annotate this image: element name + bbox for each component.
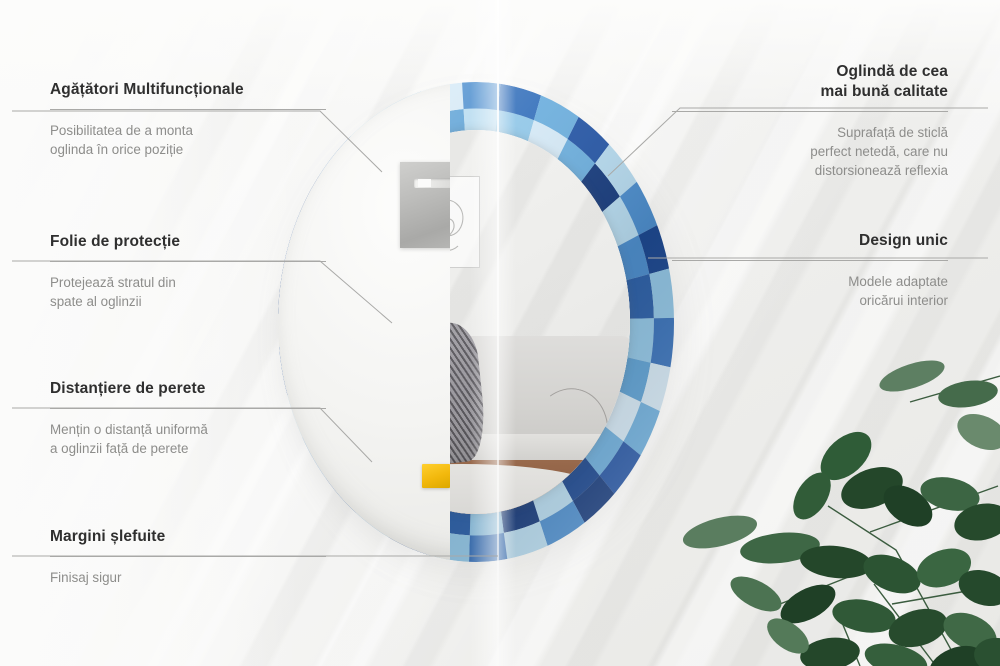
callout-rule [50,556,326,557]
foliage-decoration [660,336,1000,666]
callout-protective-film: Folie de protecțieProtejează stratul din… [50,232,326,311]
callout-rule [672,111,948,112]
callout-title: Oglindă de ceamai bună calitate [672,62,948,102]
callout-title: Margini șlefuite [50,527,326,547]
callout-body: Protejează stratul dinspate al oglinzii [50,273,326,311]
callout-unique-design: Design unicModele adaptateoricărui inter… [672,231,948,310]
callout-body: Finisaj sigur [50,568,326,587]
wall-spacer [422,464,450,488]
callout-body: Posibilitatea de a montaoglinda în orice… [50,121,326,159]
callout-rule [50,261,326,262]
callout-body: Modele adaptateoricărui interior [672,272,948,310]
callout-title: Agățători Multifuncționale [50,80,326,100]
callout-wall-spacers: Distanțiere de pereteMențin o distanță u… [50,379,326,458]
callout-polished-edges: Margini șlefuiteFinisaj sigur [50,527,326,587]
callout-rule [50,408,326,409]
callout-rule [50,109,326,110]
callout-hangers: Agățători MultifuncționalePosibilitatea … [50,80,326,159]
callout-title: Distanțiere de perete [50,379,326,399]
infographic-canvas: Agățători MultifuncționalePosibilitatea … [0,0,1000,666]
callout-body: Mențin o distanță uniformăa oglinzii faț… [50,420,326,458]
foliage-leaves [680,354,1000,666]
hanger-notch [418,179,431,187]
callout-title: Folie de protecție [50,232,326,252]
callout-rule [672,260,948,261]
callout-title: Design unic [672,231,948,251]
split-view-seam [497,0,499,666]
callout-best-quality-mirror: Oglindă de ceamai bună calitateSuprafață… [672,62,948,180]
callout-body: Suprafață de sticlăperfect netedă, care … [672,123,948,180]
reflected-lamp-shade [564,481,590,490]
